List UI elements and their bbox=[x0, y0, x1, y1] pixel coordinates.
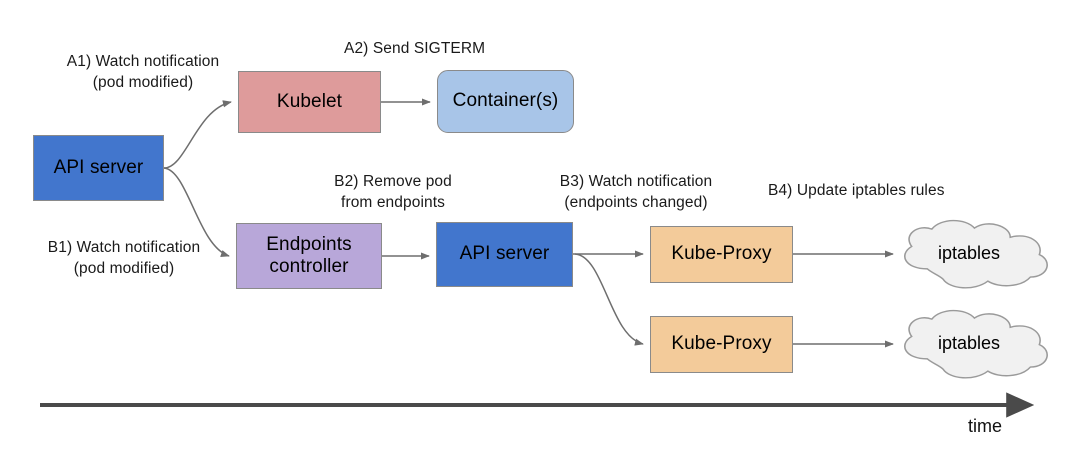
edge-api-to-endpoints bbox=[164, 168, 229, 256]
edge-api-to-kubelet bbox=[164, 102, 231, 168]
edge-apiserver-to-proxy-bottom bbox=[575, 254, 643, 344]
kubernetes-pod-deletion-diagram: API server Kubelet Container(s) Endpoint… bbox=[0, 0, 1080, 461]
edge-arrow-layer bbox=[0, 0, 1080, 461]
